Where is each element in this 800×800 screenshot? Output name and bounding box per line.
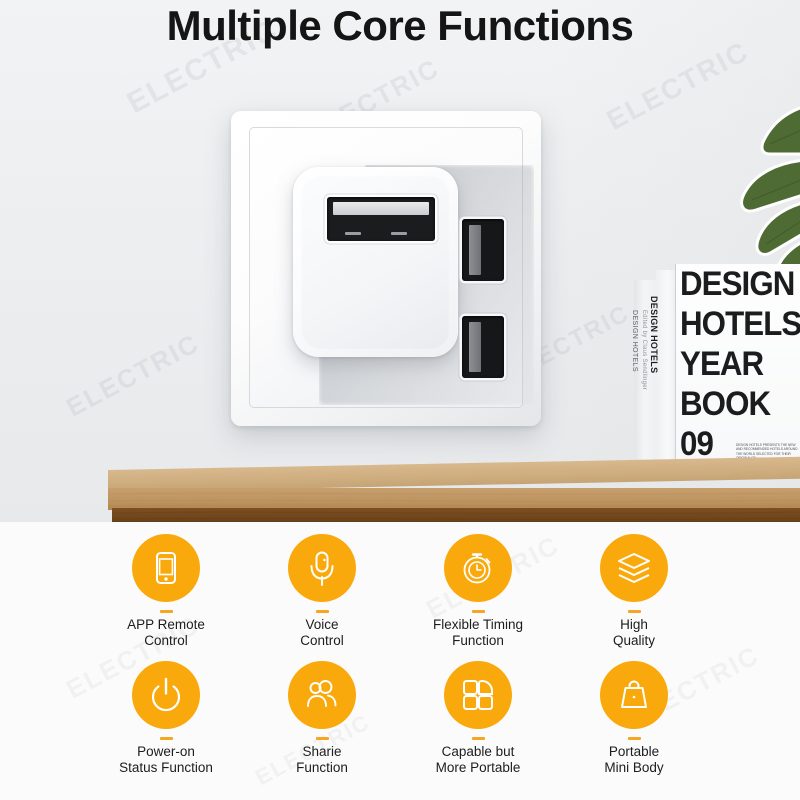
feature-item-high-quality[interactable]: High Quality — [556, 534, 712, 649]
feature-icon-badge — [444, 534, 512, 602]
accent-dash — [316, 610, 329, 613]
features-panel: ELECTRIC ELECTRIC ELECTRIC ELECTRIC APP … — [0, 522, 800, 800]
feature-icon-badge — [132, 661, 200, 729]
book-cover-line: BOOK — [680, 384, 794, 424]
product-marketing-image: ELECTRIC ELECTRIC ELECTRIC ELECTRIC ELEC… — [0, 0, 800, 800]
accent-dash — [160, 737, 173, 740]
feature-label-line2: Mini Body — [604, 760, 663, 775]
feature-label-line1: APP Remote — [127, 617, 205, 632]
feature-label: Voice Control — [300, 617, 344, 649]
users-icon — [302, 675, 342, 715]
feature-label-line1: High — [620, 617, 648, 632]
book-spine-title: DESIGN HOTELS — [649, 296, 659, 466]
grid-four-icon — [458, 675, 498, 715]
feature-label-line1: Voice — [305, 617, 338, 632]
feature-item-portable-mini-body[interactable]: Portable Mini Body — [556, 661, 712, 776]
feature-label: Portable Mini Body — [604, 744, 663, 776]
wall-socket-product — [231, 111, 541, 426]
feature-item-app-remote-control[interactable]: APP Remote Control — [88, 534, 244, 649]
book-spine-small-text: DESIGN HOTELS — [631, 310, 638, 460]
feature-label-line2: Status Function — [119, 760, 213, 775]
table-side-panel — [112, 508, 800, 522]
page-title: Multiple Core Functions — [0, 2, 800, 50]
monstera-leaf-icon — [720, 98, 800, 283]
weight-icon — [614, 675, 654, 715]
feature-icon-badge — [132, 534, 200, 602]
book-cover: DESIGN HOTELS YEAR BOOK 09 DESIGN HOTELS… — [676, 264, 800, 474]
table-edge — [108, 488, 800, 510]
feature-label: Flexible Timing Function — [433, 617, 523, 649]
charger-module — [293, 167, 458, 357]
feature-item-flexible-timing[interactable]: Flexible Timing Function — [400, 534, 556, 649]
feature-icon-badge — [600, 661, 668, 729]
feature-label-line2: Function — [296, 760, 348, 775]
module-bevel — [301, 175, 450, 349]
book-spine-small-text-2: Edited by Claus Sendlinger — [641, 310, 647, 460]
feature-label-line2: Control — [144, 633, 188, 648]
book-cover-line: YEAR — [680, 344, 794, 384]
accent-dash — [628, 737, 641, 740]
feature-icon-badge — [444, 661, 512, 729]
accent-dash — [316, 737, 329, 740]
feature-label-line1: Power-on — [137, 744, 195, 759]
socket-faceplate-inner — [249, 127, 523, 408]
feature-icon-badge — [288, 661, 356, 729]
feature-item-power-on-status[interactable]: Power-on Status Function — [88, 661, 244, 776]
accent-dash — [628, 610, 641, 613]
feature-item-voice-control[interactable]: Voice Control — [244, 534, 400, 649]
feature-label-line2: Function — [452, 633, 504, 648]
usb-contact — [345, 232, 361, 235]
microphone-icon — [302, 548, 342, 588]
stopwatch-icon — [458, 548, 498, 588]
accent-dash — [160, 610, 173, 613]
usb-a-port-horizontal — [327, 197, 435, 241]
accent-dash — [472, 610, 485, 613]
usb-a-port-vertical-bottom — [462, 316, 504, 378]
feature-label-line2: Quality — [613, 633, 655, 648]
feature-label-line1: Sharie — [302, 744, 341, 759]
feature-label: Sharie Function — [296, 744, 348, 776]
watermark: ELECTRIC — [61, 328, 204, 424]
usb-tongue — [469, 322, 481, 372]
feature-item-share[interactable]: Sharie Function — [244, 661, 400, 776]
feature-grid: APP Remote Control Voice Cont — [88, 534, 712, 776]
usb-tongue — [333, 202, 429, 215]
usb-contact — [391, 232, 407, 235]
usb-tongue — [469, 225, 481, 275]
wood-grain — [108, 488, 800, 510]
feature-label-line2: More Portable — [436, 760, 521, 775]
feature-label: Capable but More Portable — [436, 744, 521, 776]
accent-dash — [472, 737, 485, 740]
feature-icon-badge — [288, 534, 356, 602]
power-icon — [146, 675, 186, 715]
book-cover-line: HOTELS — [680, 304, 794, 344]
feature-label: High Quality — [613, 617, 655, 649]
layers-icon — [614, 548, 654, 588]
feature-icon-badge — [600, 534, 668, 602]
feature-label: Power-on Status Function — [119, 744, 213, 776]
table-surface — [108, 457, 800, 492]
feature-label-line1: Capable but — [442, 744, 515, 759]
usb-a-port-vertical-top — [462, 219, 504, 281]
book-spine-front: DESIGN HOTELS — [656, 270, 678, 474]
book-stack: DESIGN HOTELS Edited by Claus Sendlinger… — [634, 262, 800, 474]
book-cover-line: DESIGN — [680, 264, 794, 304]
feature-label-line1: Flexible Timing — [433, 617, 523, 632]
wood-grain — [112, 508, 800, 522]
feature-label-line2: Control — [300, 633, 344, 648]
feature-label-line1: Portable — [609, 744, 659, 759]
smartphone-icon — [146, 548, 186, 588]
hero-photo: ELECTRIC ELECTRIC ELECTRIC ELECTRIC ELEC… — [0, 0, 800, 522]
feature-label: APP Remote Control — [127, 617, 205, 649]
feature-item-capable-portable[interactable]: Capable but More Portable — [400, 661, 556, 776]
